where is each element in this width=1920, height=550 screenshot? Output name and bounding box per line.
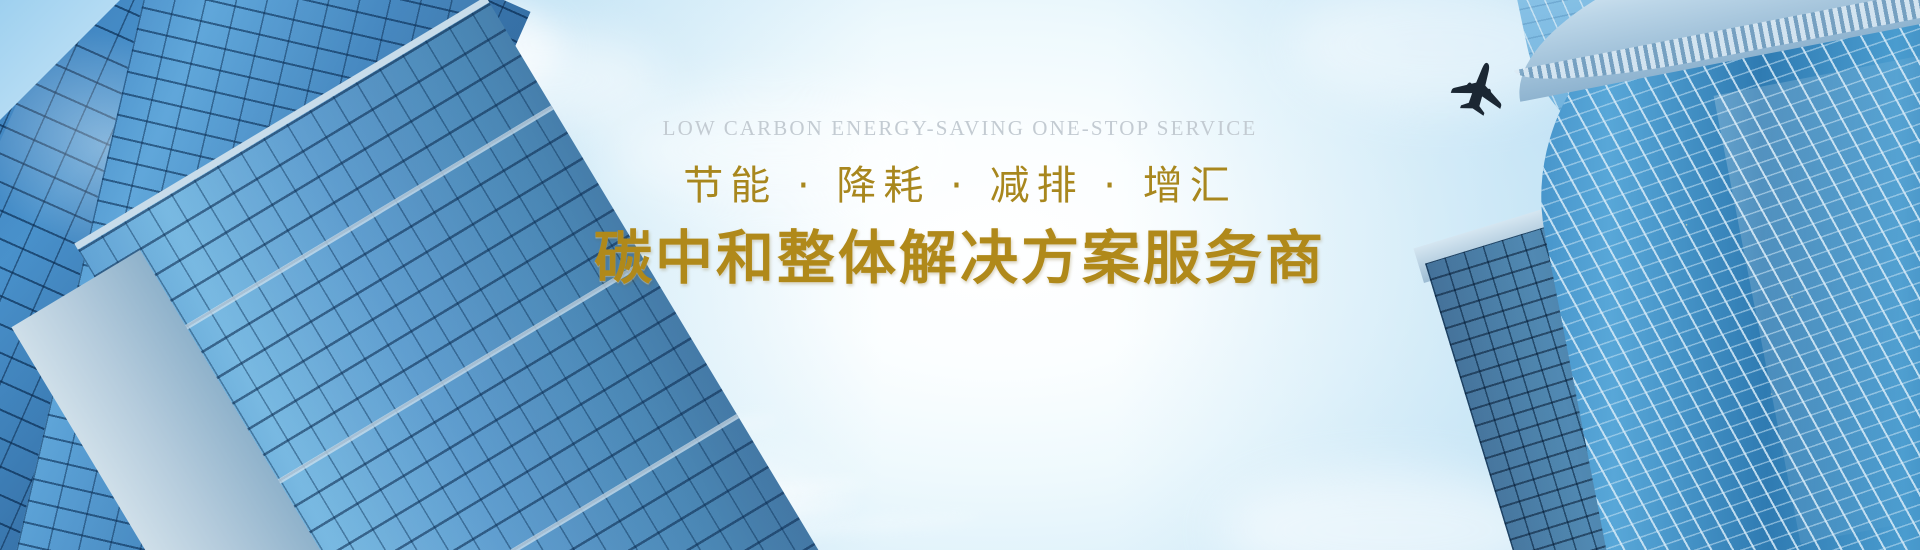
english-tagline: LOW CARBON ENERGY-SAVING ONE-STOP SERVIC… — [0, 118, 1920, 139]
sub-headline: 节能 · 降耗 · 减排 · 增汇 — [0, 163, 1920, 210]
main-headline: 碳中和整体解决方案服务商 — [0, 224, 1920, 292]
banner-text-block: LOW CARBON ENERGY-SAVING ONE-STOP SERVIC… — [0, 118, 1920, 293]
hero-banner: LOW CARBON ENERGY-SAVING ONE-STOP SERVIC… — [0, 0, 1920, 550]
